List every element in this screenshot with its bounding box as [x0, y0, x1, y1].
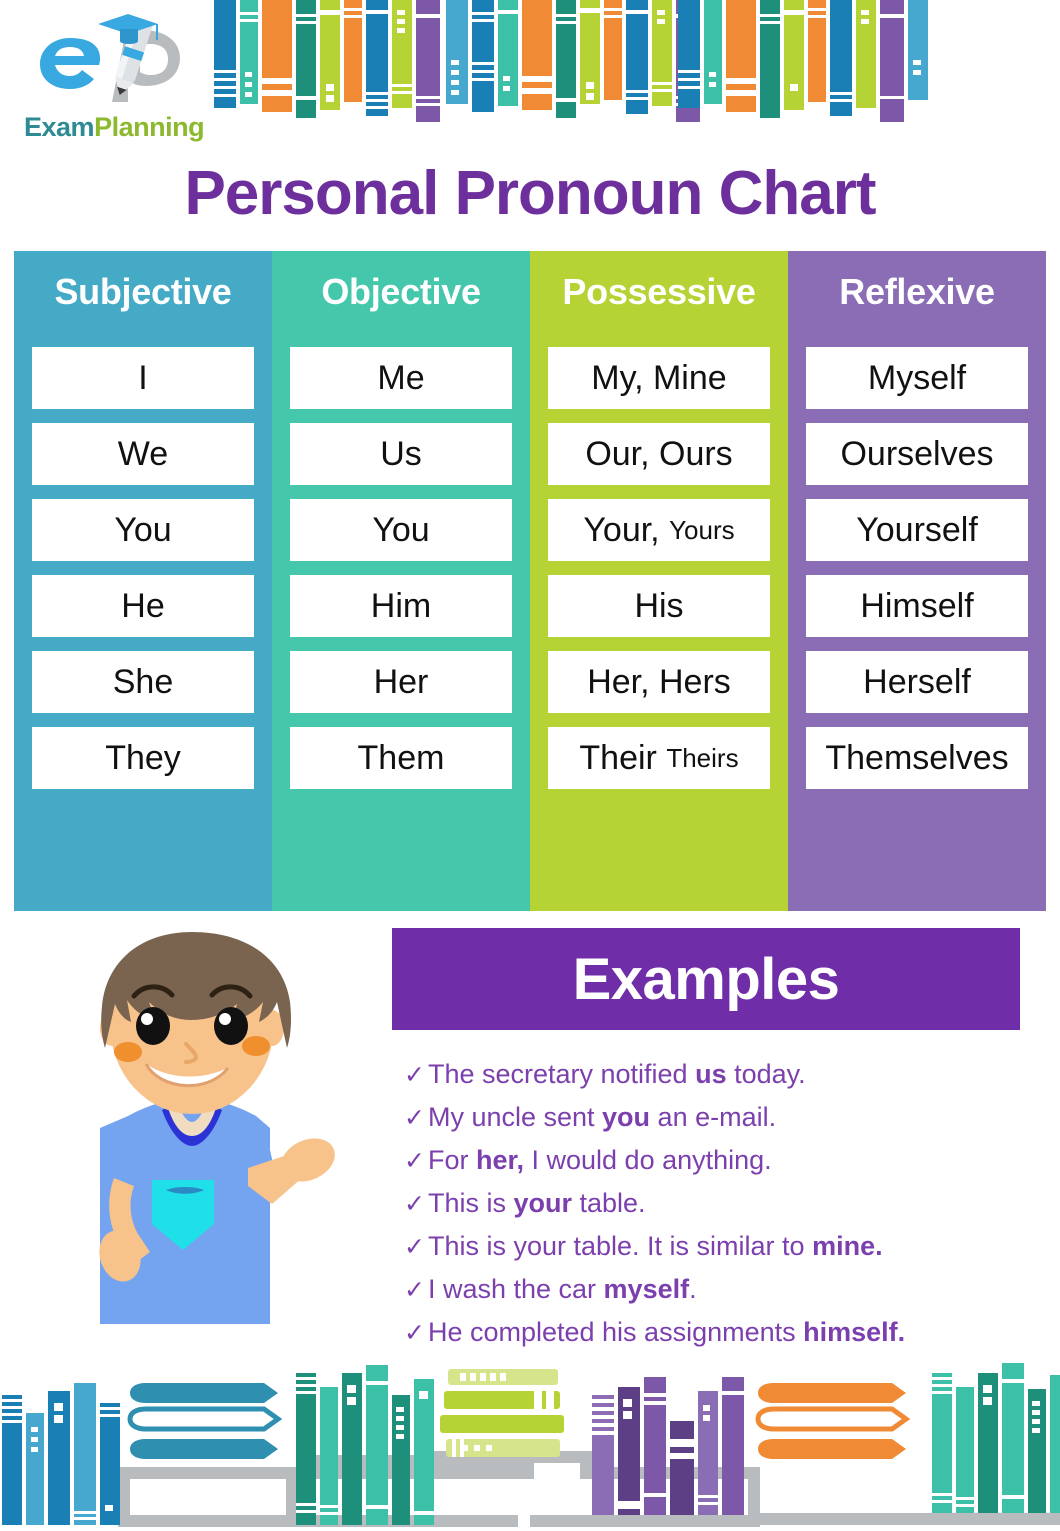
example-bold: your: [513, 1188, 572, 1218]
page-title: Personal Pronoun Chart: [0, 163, 1060, 225]
example-before: This is your table. It is similar to: [428, 1231, 812, 1261]
example-before: This is: [428, 1188, 514, 1218]
example-before: He completed his assignments: [428, 1317, 803, 1347]
cell-text: Yourself: [856, 513, 978, 547]
example-before: I wash the car: [428, 1274, 604, 1304]
cell-text: My, Mine: [591, 361, 726, 395]
table-cell: Ourselves: [806, 423, 1028, 485]
bottom-bookshelf-border: [0, 1355, 1060, 1531]
cell-text: Herself: [863, 665, 971, 699]
table-cell: Himself: [806, 575, 1028, 637]
table-cell: Our, Ours: [548, 423, 770, 485]
list-item: ✓ The secretary notified us today.: [404, 1053, 1034, 1096]
table-cell: She: [32, 651, 254, 713]
example-text: This is your table. It is similar to min…: [428, 1225, 883, 1267]
pronoun-table: Subjective I We You He She They Objectiv…: [14, 251, 1046, 911]
example-after: an e-mail.: [650, 1102, 776, 1132]
cell-text: She: [113, 665, 174, 699]
example-bold: her,: [476, 1145, 524, 1175]
table-cell: Me: [290, 347, 512, 409]
example-text: I wash the car myself.: [428, 1268, 697, 1310]
column-header-reflexive: Reflexive: [788, 251, 1046, 333]
cell-text: Himself: [860, 589, 973, 623]
example-after: I would do anything.: [524, 1145, 772, 1175]
example-text: He completed his assignments himself.: [428, 1311, 905, 1353]
example-text: My uncle sent you an e-mail.: [428, 1096, 776, 1138]
check-mark-icon: ✓: [404, 1097, 425, 1139]
cell-text: Me: [377, 361, 424, 395]
check-mark-icon: ✓: [404, 1054, 425, 1096]
logo-word-planning: Planning: [94, 112, 204, 142]
check-mark-icon: ✓: [404, 1183, 425, 1225]
cell-text: Myself: [868, 361, 966, 395]
cell-text: His: [634, 589, 683, 623]
example-bold: you: [602, 1102, 650, 1132]
table-cell: Him: [290, 575, 512, 637]
cell-text: I: [138, 361, 147, 395]
list-item: ✓ This is your table.: [404, 1182, 1034, 1225]
cell-text: Our, Ours: [585, 437, 732, 471]
cell-text: Your,: [583, 513, 659, 547]
column-reflexive: Reflexive Myself Ourselves Yourself Hims…: [788, 251, 1046, 911]
cell-text: Themselves: [825, 741, 1008, 775]
cell-text-small: Theirs: [666, 745, 738, 771]
example-text: The secretary notified us today.: [428, 1053, 806, 1095]
table-cell: Them: [290, 727, 512, 789]
list-item: ✓ This is your table. It is similar to m…: [404, 1225, 1034, 1268]
logo-wordmark: ExamPlanning: [24, 112, 204, 143]
table-cell: My, Mine: [548, 347, 770, 409]
table-cell: Themselves: [806, 727, 1028, 789]
table-cell: They: [32, 727, 254, 789]
column-possessive: Possessive My, Mine Our, Ours Your, Your…: [530, 251, 788, 911]
example-before: For: [428, 1145, 476, 1175]
example-bold: us: [695, 1059, 727, 1089]
table-cell: His: [548, 575, 770, 637]
table-cell: Her: [290, 651, 512, 713]
list-item: ✓ My uncle sent you an e-mail.: [404, 1096, 1034, 1139]
example-before: The secretary notified: [428, 1059, 695, 1089]
logo-word-exam: Exam: [24, 112, 94, 142]
example-bold: myself: [604, 1274, 690, 1304]
list-item: ✓ He completed his assignments himself.: [404, 1311, 1034, 1354]
column-header-objective: Objective: [272, 251, 530, 333]
example-text: For her, I would do anything.: [428, 1139, 772, 1181]
column-objective: Objective Me Us You Him Her Them: [272, 251, 530, 911]
cartoon-boy-icon: [24, 928, 374, 1328]
table-cell: You: [290, 499, 512, 561]
list-item: ✓ I wash the car myself.: [404, 1268, 1034, 1311]
cell-text: Their: [579, 741, 656, 775]
column-subjective: Subjective I We You He She They: [14, 251, 272, 911]
example-before: My uncle sent: [428, 1102, 602, 1132]
column-header-possessive: Possessive: [530, 251, 788, 333]
cell-text: You: [372, 513, 429, 547]
check-mark-icon: ✓: [404, 1269, 425, 1311]
example-after: today.: [727, 1059, 806, 1089]
check-mark-icon: ✓: [404, 1226, 425, 1268]
table-cell: Herself: [806, 651, 1028, 713]
table-cell: Their Theirs: [548, 727, 770, 789]
cell-text: We: [118, 437, 168, 471]
cell-text: Them: [358, 741, 445, 775]
table-cell: Yourself: [806, 499, 1028, 561]
column-header-subjective: Subjective: [14, 251, 272, 333]
examples-banner: Examples: [392, 928, 1020, 1030]
check-mark-icon: ✓: [404, 1312, 425, 1354]
cell-text: Him: [371, 589, 431, 623]
cell-text: Her, Hers: [587, 665, 731, 699]
table-cell: Myself: [806, 347, 1028, 409]
example-bold: himself.: [803, 1317, 905, 1347]
list-item: ✓ For her, I would do anything.: [404, 1139, 1034, 1182]
examples-list: ✓ The secretary notified us today. ✓ My …: [404, 1053, 1034, 1354]
table-cell: Us: [290, 423, 512, 485]
cell-text: Ourselves: [840, 437, 993, 471]
example-text: This is your table.: [428, 1182, 646, 1224]
check-mark-icon: ✓: [404, 1140, 425, 1182]
cell-text: You: [114, 513, 171, 547]
examplanning-logo: ExamPlanning: [18, 8, 218, 148]
cell-text: He: [121, 589, 164, 623]
table-cell: Her, Hers: [548, 651, 770, 713]
table-cell: He: [32, 575, 254, 637]
cell-text: Us: [380, 437, 422, 471]
cell-text-small: Yours: [669, 517, 735, 543]
example-after: .: [689, 1274, 697, 1304]
cell-text: They: [105, 741, 181, 775]
cell-text: Her: [374, 665, 429, 699]
table-cell: I: [32, 347, 254, 409]
ep-graduation-pencil-icon: [28, 8, 208, 104]
table-cell: We: [32, 423, 254, 485]
examples-banner-label: Examples: [573, 946, 840, 1013]
example-bold: mine.: [812, 1231, 883, 1261]
table-cell: Your, Yours: [548, 499, 770, 561]
table-cell: You: [32, 499, 254, 561]
example-after: table.: [572, 1188, 646, 1218]
